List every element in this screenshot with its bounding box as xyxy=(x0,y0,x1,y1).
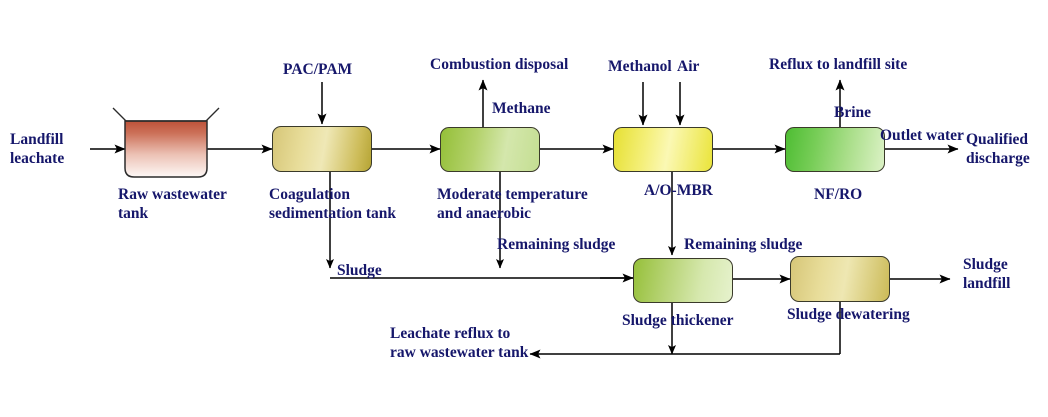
label-leachate-reflux-line1: Leachate reflux to xyxy=(390,325,510,342)
label-coagulation-tank-line1: Coagulation xyxy=(269,186,350,203)
label-sludge-landfill-line2: landfill xyxy=(963,275,1010,292)
unit-sludge-thickener[interactable] xyxy=(633,258,733,303)
label-brine: Brine xyxy=(834,104,871,121)
label-qualified-discharge-line1: Qualified xyxy=(966,131,1028,148)
label-remaining-sludge-aombr: Remaining sludge xyxy=(684,236,802,253)
process-flow-diagram: Landfill leachate Raw wastewater tank PA… xyxy=(0,0,1048,417)
label-air: Air xyxy=(677,58,699,75)
label-nf-ro: NF/RO xyxy=(814,186,862,203)
label-sludge-dewatering: Sludge dewatering xyxy=(787,306,910,323)
label-sludge-landfill-line1: Sludge xyxy=(963,256,1008,273)
unit-coagulation-sedimentation-tank[interactable] xyxy=(272,126,372,172)
label-outlet-water: Outlet water xyxy=(880,127,964,144)
label-methanol: Methanol xyxy=(608,58,672,75)
label-anaerobic-line2: and anaerobic xyxy=(437,205,531,222)
label-remaining-sludge-anaerobic: Remaining sludge xyxy=(497,236,615,253)
label-ao-mbr: A/O-MBR xyxy=(644,182,713,199)
label-pac-pam: PAC/PAM xyxy=(283,61,352,78)
label-landfill-leachate-line1: Landfill xyxy=(10,131,63,148)
label-qualified-discharge-line2: discharge xyxy=(966,150,1030,167)
label-sludge: Sludge xyxy=(337,262,382,279)
label-sludge-thickener: Sludge thickener xyxy=(622,312,734,329)
label-raw-wastewater-tank-line1: Raw wastewater xyxy=(118,186,227,203)
label-methane: Methane xyxy=(492,100,551,117)
unit-nf-ro[interactable] xyxy=(785,127,885,172)
unit-moderate-temperature-anaerobic[interactable] xyxy=(440,127,540,172)
label-anaerobic-line1: Moderate temperature xyxy=(437,186,588,203)
unit-ao-mbr[interactable] xyxy=(613,127,713,172)
label-reflux-to-landfill-site: Reflux to landfill site xyxy=(769,56,907,73)
label-raw-wastewater-tank-line2: tank xyxy=(118,205,148,222)
unit-sludge-dewatering[interactable] xyxy=(790,256,890,302)
label-coagulation-tank-line2: sedimentation tank xyxy=(269,205,396,222)
label-combustion-disposal: Combustion disposal xyxy=(430,56,568,73)
label-landfill-leachate-line2: leachate xyxy=(10,150,64,167)
label-leachate-reflux-line2: raw wastewater tank xyxy=(390,344,528,361)
